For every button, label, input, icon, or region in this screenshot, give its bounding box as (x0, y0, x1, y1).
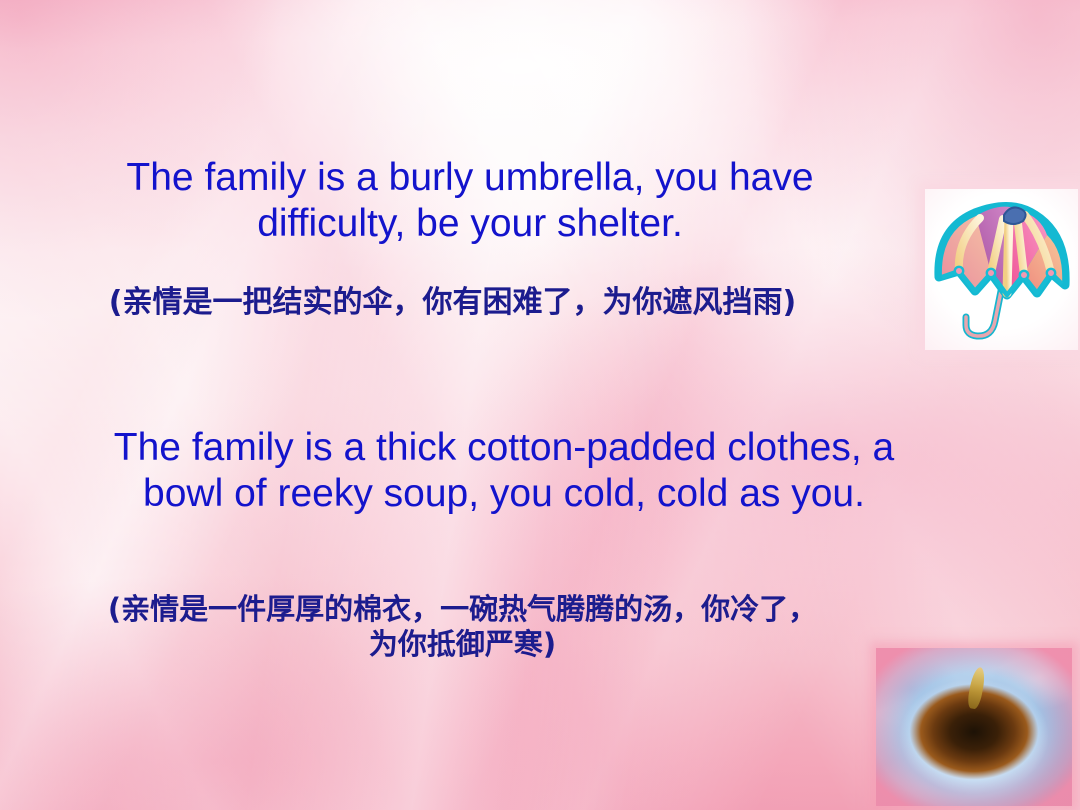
stanza-2-chinese-line-1: (亲情是一件厚厚的棉衣，一碗热气腾腾的汤，你冷了， (0, 592, 925, 627)
stanza-2-english-text: The family is a thick cotton-padded clot… (0, 425, 1008, 517)
umbrella-icon (925, 189, 1078, 350)
stanza-2-chinese-line-2: 为你抵御严寒) (0, 627, 925, 662)
stanza-1-english-line-1: The family is a burly umbrella, you have (0, 155, 940, 201)
umbrella-clipart-canvas (925, 189, 1078, 350)
slide-canvas: The family is a burly umbrella, you have… (0, 0, 1080, 810)
soup-photo-vignette (876, 648, 1072, 806)
umbrella-clipart (925, 189, 1078, 350)
stanza-1-english-text: The family is a burly umbrella, you have… (0, 155, 940, 247)
stanza-1-chinese-text: (亲情是一把结实的伞，你有困难了，为你遮风挡雨) (0, 285, 905, 322)
stanza-2-english-line-1: The family is a thick cotton-padded clot… (0, 425, 1008, 471)
stanza-2-chinese-text: (亲情是一件厚厚的棉衣，一碗热气腾腾的汤，你冷了， 为你抵御严寒) (0, 592, 925, 663)
stanza-2-english-line-2: bowl of reeky soup, you cold, cold as yo… (0, 471, 1008, 517)
soup-photo (876, 648, 1072, 806)
stanza-1-english-line-2: difficulty, be your shelter. (0, 201, 940, 247)
stanza-1-chinese-line-1: (亲情是一把结实的伞，你有困难了，为你遮风挡雨) (0, 285, 905, 322)
